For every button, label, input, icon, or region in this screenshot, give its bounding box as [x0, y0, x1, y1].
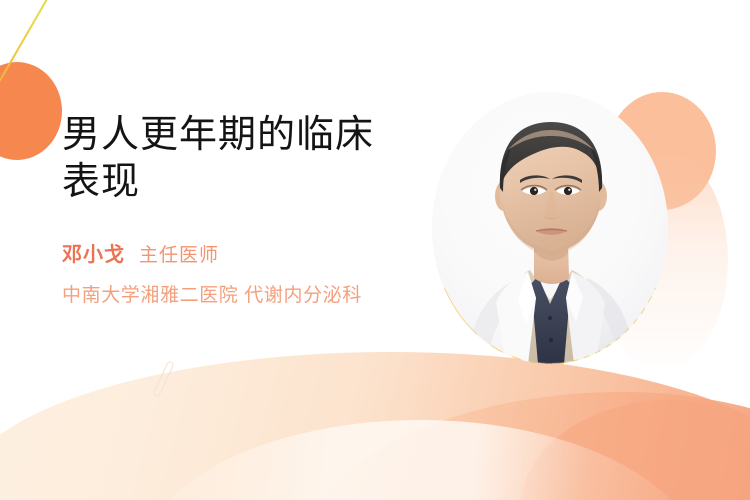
orange-circle	[0, 62, 62, 160]
gold-diagonal-stripes	[432, 286, 668, 364]
doctor-byline: 邓小戈 主任医师	[62, 238, 462, 267]
doctor-name: 邓小戈	[62, 238, 125, 267]
page-title: 男人更年期的临床 表现	[62, 112, 462, 206]
title-card: 男人更年期的临床 表现 邓小戈 主任医师 中南大学湘雅二医院 代谢内分泌科	[0, 0, 750, 500]
doctor-rank: 主任医师	[139, 240, 219, 267]
doctor-portrait	[432, 92, 668, 364]
text-block: 男人更年期的临床 表现 邓小戈 主任医师 中南大学湘雅二医院 代谢内分泌科	[62, 112, 462, 307]
doctor-affiliation: 中南大学湘雅二医院 代谢内分泌科	[62, 280, 462, 307]
